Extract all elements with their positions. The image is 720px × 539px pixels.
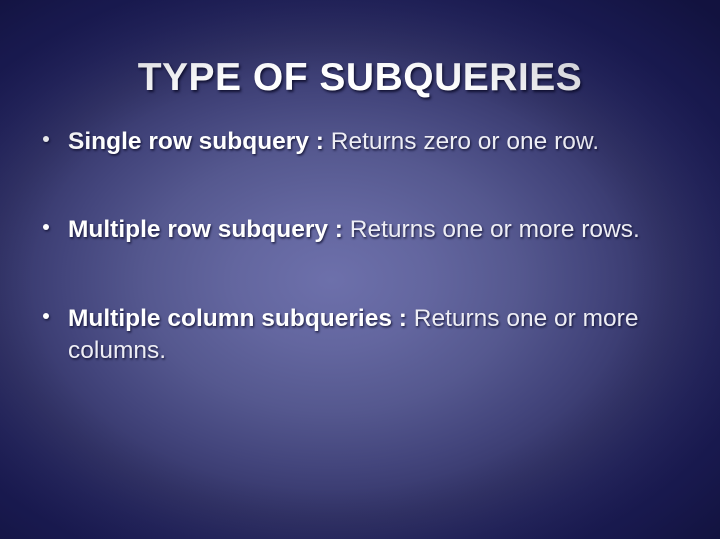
bullet-term: Multiple row subquery — [68, 216, 328, 243]
bullet-list: Single row subquery : Returns zero or on… — [38, 126, 668, 367]
bullet-dot-icon — [43, 313, 49, 319]
bullet-separator: : — [392, 305, 414, 332]
slide-title: TYPE OF SUBQUERIES — [0, 58, 720, 99]
bullet-dot-icon — [43, 224, 49, 230]
list-item: Single row subquery : Returns zero or on… — [38, 126, 668, 158]
bullet-term: Multiple column subqueries — [68, 305, 392, 332]
bullet-description: Returns zero or one row. — [331, 128, 599, 155]
bullet-term: Single row subquery — [68, 128, 309, 155]
list-item: Multiple row subquery : Returns one or m… — [38, 214, 668, 246]
presentation-slide: TYPE OF SUBQUERIES Single row subquery :… — [0, 0, 720, 539]
bullet-separator: : — [328, 216, 350, 243]
bullet-dot-icon — [43, 136, 49, 142]
bullet-separator: : — [309, 128, 331, 155]
list-item: Multiple column subqueries : Returns one… — [38, 303, 668, 368]
bullet-description: Returns one or more rows. — [350, 216, 640, 243]
